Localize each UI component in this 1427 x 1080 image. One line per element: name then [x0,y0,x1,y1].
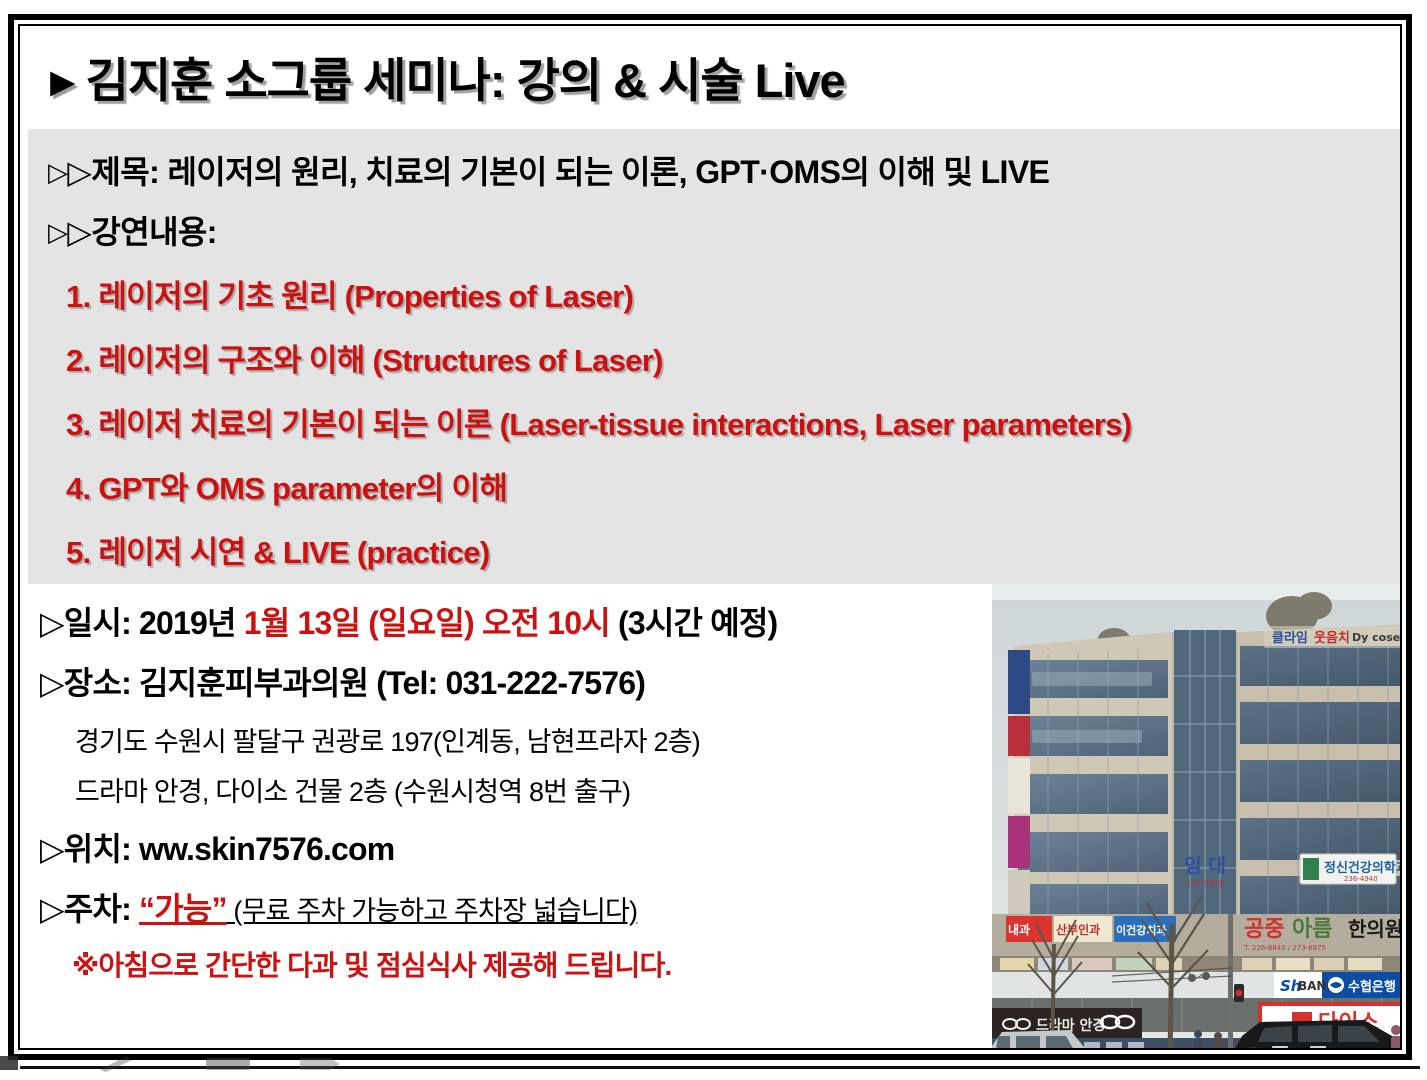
content-heading: ▷▷강연내용: [48,207,217,253]
poster-inner-frame: ► 김지훈 소그룹 세미나: 강의 & 시술 Live ▷▷제목: 레이저의 원… [18,24,1402,1050]
page-title: ► 김지훈 소그룹 세미나: 강의 & 시술 Live [42,42,845,111]
subject-text: 레이저의 원리, 치료의 기본이 되는 이론, GPT·OMS의 이해 및 LI… [167,154,1049,190]
bank-sign: Sh BANK 수협은행 [1274,972,1402,998]
parking-line: ▷주차: “가능” (무료 주차 가능하고 주차장 넓습니다) [40,884,637,930]
svg-text:정신건강의학과: 정신건강의학과 [1324,860,1402,876]
address-line-1: 경기도 수원시 팔달구 권광로 197(인계동, 남현프라자 2층) [75,720,700,759]
title-bar: ► 김지훈 소그룹 세미나: 강의 & 시술 Live [20,26,1400,126]
list-item: 1. 레이저의 기초 원리 (Properties of Laser) [66,271,633,316]
venue-line: ▷장소: 김지훈피부과의원 (Tel: 031-222-7576) [40,658,645,704]
open-triangle-right-icon: ▷ [48,217,67,247]
svg-text:Dy cosery: Dy cosery [1352,631,1402,644]
vacancy-sign: 임 대 [1184,855,1226,877]
parking-highlight: 가능 [154,891,211,927]
lecture-content-panel: ▷▷제목: 레이저의 원리, 치료의 기본이 되는 이론, GPT·OMS의 이… [28,129,1402,584]
parking-suffix: (무료 주차 가능하고 주차장 넓습니다) [227,896,638,926]
svg-text:웃음치: 웃음치 [1314,630,1350,646]
building-photo-illustration: 임 대 235-9828 클라임 웃음치 Dy cosery 정신건강의학과 2… [992,584,1402,1050]
svg-text:수협은행: 수협은행 [1348,979,1396,995]
address-line-2: 드라마 안경, 다이소 건물 2층 (수원시청역 8번 출구) [75,770,630,809]
svg-text:산부인과: 산부인과 [1056,922,1100,937]
svg-text:아름: 아름 [1292,917,1332,942]
meal-note: ※아침으로 간단한 다과 및 점심식사 제공해 드립니다. [72,944,671,984]
page-title-text: 김지훈 소그룹 세미나: 강의 & 시술 Live [86,42,845,111]
list-item: 3. 레이저 치료의 기본이 되는 이론 (Laser-tissue inter… [66,399,1131,444]
date-prefix: ▷일시: 2019년 [40,605,244,641]
parking-prefix: ▷주차: [40,891,139,927]
poster-frame: ► 김지훈 소그룹 세미나: 강의 & 시술 Live ▷▷제목: 레이저의 원… [8,14,1412,1060]
parking-quote-open: “ [139,891,154,927]
svg-text:공중: 공중 [1244,917,1284,942]
list-item: 2. 레이저의 구조와 이해 (Structures of Laser) [66,335,663,380]
svg-text:T. 226-8843 / 273-6875: T. 226-8843 / 273-6875 [1243,944,1326,952]
svg-text:내과: 내과 [1008,922,1030,937]
open-triangle-right-icon: ▷ [48,157,67,187]
date-suffix: (3시간 예정) [610,605,777,641]
content-heading-text: ▷강연내용: [67,214,216,250]
psychiatry-sign: 정신건강의학과 236-4940 [1300,854,1402,884]
building-stair-tower: 임 대 235-9828 [1174,630,1236,914]
svg-text:한의원: 한의원 [1348,917,1402,941]
website-line[interactable]: ▷위치: ww.skin7576.com [40,824,394,870]
date-highlight: 1월 13일 (일요일) 오전 10시 [244,605,610,641]
building-photo: 임 대 235-9828 클라임 웃음치 Dy cosery 정신건강의학과 2… [992,584,1402,1050]
parking-quote-close: ” [212,891,227,927]
svg-text:클라임: 클라임 [1272,630,1308,646]
list-item: 5. 레이저 시연 & LIVE (practice) [66,527,489,572]
svg-text:235-9828: 235-9828 [1186,879,1225,888]
list-item: 4. GPT와 OMS parameter의 이해 [66,463,507,508]
bottom-edge-artifacts [0,1056,1427,1080]
vertical-sign-stack [1008,650,1030,914]
hansarang-sign-band [992,884,1174,916]
subject-line: ▷▷제목: 레이저의 원리, 치료의 기본이 되는 이론, GPT·OMS의 이… [48,147,1049,193]
rooftop-sign: 클라임 웃음치 Dy cosery [1264,626,1402,648]
subject-label: ▷제목: [67,154,167,190]
svg-text:236-4940: 236-4940 [1344,875,1378,883]
event-date-line: ▷일시: 2019년 1월 13일 (일요일) 오전 10시 (3시간 예정) [40,598,777,644]
solid-triangle-right-icon: ► [42,61,84,103]
